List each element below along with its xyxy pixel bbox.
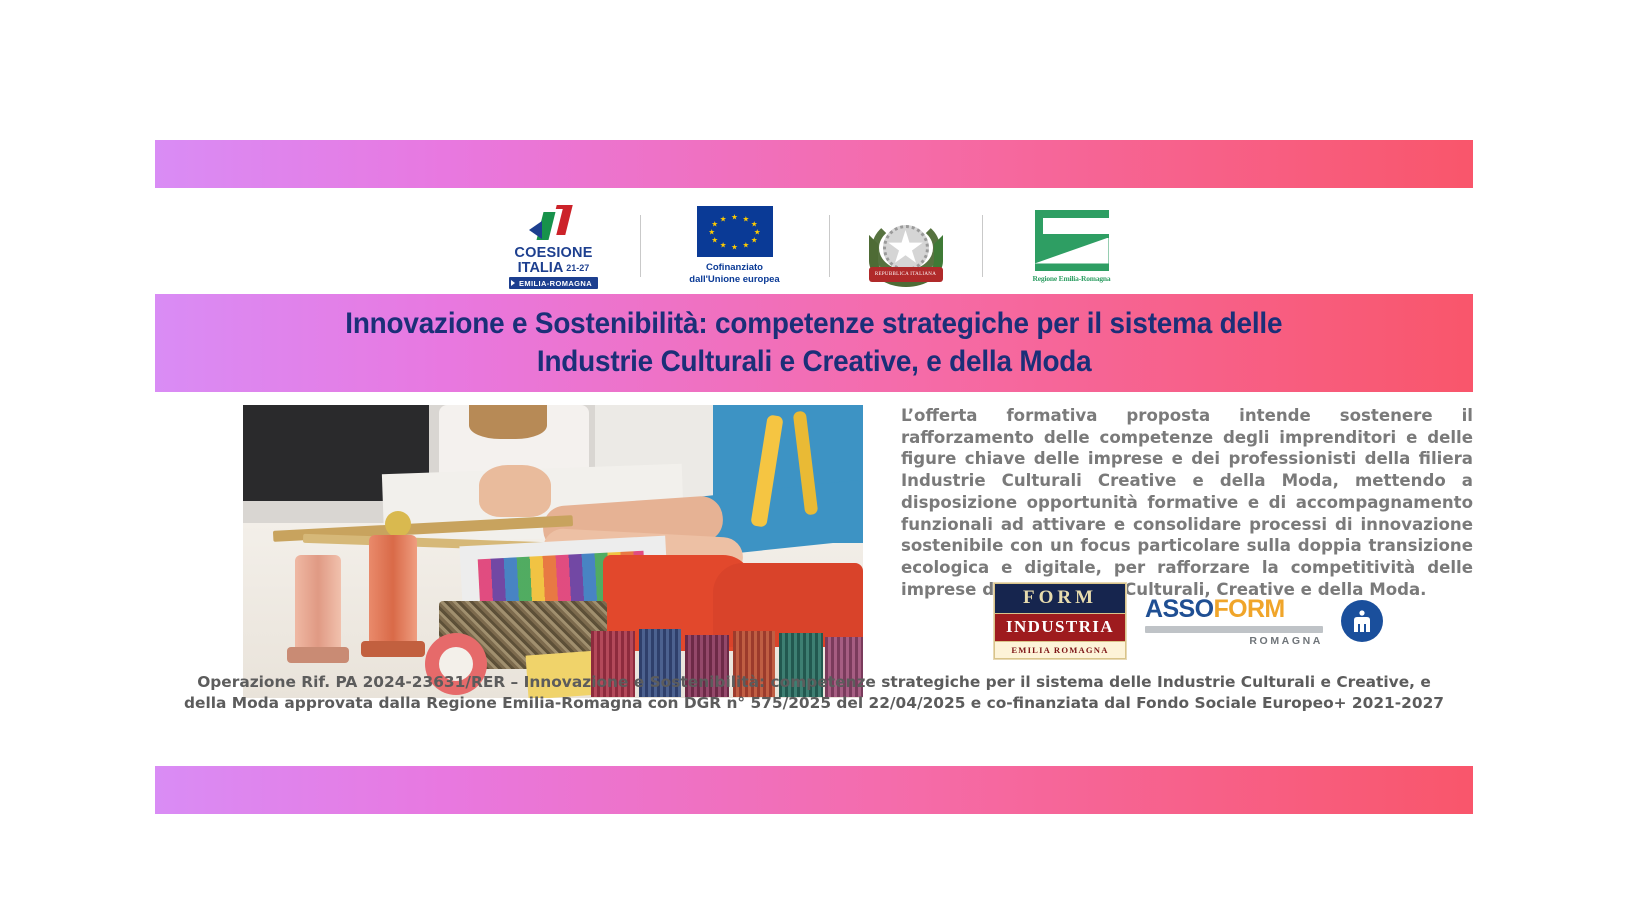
title-banner: Innovazione e Sostenibilità: competenze … <box>155 294 1473 392</box>
eu-caption: Cofinanziato dall'Unione europea <box>689 262 779 285</box>
page-title-line2: Industrie Culturali e Creative, e della … <box>537 343 1092 381</box>
footer-note: Operazione Rif. PA 2024-23631/RER – Inno… <box>155 672 1473 715</box>
footer-line2: della Moda approvata dalla Regione Emili… <box>155 693 1473 714</box>
eu-caption-line1: Cofinanziato <box>689 262 779 274</box>
regione-mark-icon <box>1035 210 1109 271</box>
coesione-years: 21-27 <box>566 263 589 275</box>
assoform-part1: ASSO <box>1145 595 1213 624</box>
eu-flag-icon: ★ ★ ★ ★ ★ ★ ★ ★ ★ ★ ★ ★ <box>697 206 773 257</box>
eu-caption-line2: dall'Unione europea <box>689 274 779 286</box>
form-industria-bottom: EMILIA ROMAGNA <box>994 642 1126 659</box>
page-title-line1: Innovazione e Sostenibilità: competenze … <box>345 305 1282 343</box>
assoform-bar <box>1145 626 1323 633</box>
emblem-ribbon: REPUBBLICA ITALIANA <box>869 267 943 282</box>
coesione-cube-icon <box>523 203 585 243</box>
assoform-logo: ASSO FORM ROMAGNA <box>1145 595 1323 647</box>
logo-divider-3 <box>982 215 983 277</box>
regione-emilia-romagna-logo: Regione Emilia-Romagna <box>1017 200 1127 292</box>
coesione-region-band: EMILIA-ROMAGNA <box>509 277 598 289</box>
body-paragraph: L’offerta formativa proposta intende sos… <box>901 405 1473 601</box>
partner-logo-row: FORM INDUSTRIA EMILIA ROMAGNA ASSO FORM … <box>155 588 1473 654</box>
form-industria-middle: INDUSTRIA <box>994 614 1126 642</box>
coesione-italia-logo: COESIONE ITALIA 21-27 EMILIA-ROMAGNA <box>502 200 606 292</box>
coesione-line1: COESIONE <box>514 246 592 261</box>
institutional-logo-strip: COESIONE ITALIA 21-27 EMILIA-ROMAGNA ★ ★… <box>155 200 1473 292</box>
form-industria-logo: FORM INDUSTRIA EMILIA ROMAGNA <box>993 582 1127 660</box>
assoform-sub: ROMAGNA <box>1249 635 1323 647</box>
repubblica-italiana-emblem: REPUBBLICA ITALIANA <box>864 200 948 292</box>
content-row: L’offerta formativa proposta intende sos… <box>155 405 1473 710</box>
european-union-logo: ★ ★ ★ ★ ★ ★ ★ ★ ★ ★ ★ ★ Cofinanziato dal… <box>675 200 795 292</box>
bottom-gradient-bar <box>155 766 1473 814</box>
coesione-line2: ITALIA <box>518 261 564 276</box>
top-gradient-bar <box>155 140 1473 188</box>
poster-page: COESIONE ITALIA 21-27 EMILIA-ROMAGNA ★ ★… <box>0 0 1640 924</box>
logo-divider-2 <box>829 215 830 277</box>
assoform-part2: FORM <box>1213 595 1284 624</box>
logo-divider-1 <box>640 215 641 277</box>
circular-blue-badge <box>1341 600 1383 642</box>
form-industria-top: FORM <box>994 583 1126 614</box>
emblem-ribbon-text: REPUBBLICA ITALIANA <box>875 272 936 277</box>
footer-line1: Operazione Rif. PA 2024-23631/RER – Inno… <box>155 672 1473 693</box>
regione-caption: Regione Emilia-Romagna <box>1033 274 1111 283</box>
fashion-workshop-photo <box>243 405 863 698</box>
